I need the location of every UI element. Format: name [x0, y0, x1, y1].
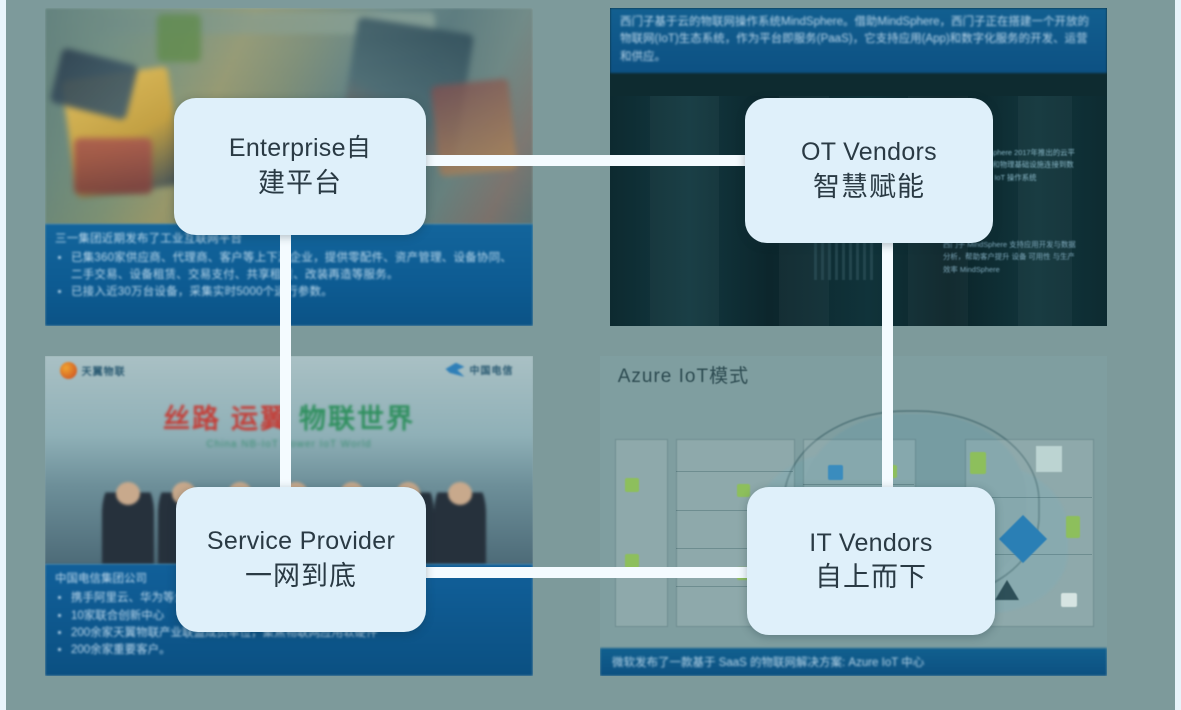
photo-shape-robot-arm-2	[49, 47, 138, 120]
diagram-triangle	[995, 580, 1019, 600]
china-telecom-logo-text: 中国电信	[469, 362, 513, 377]
panel-br-caption: 微软发布了一款基于 SaaS 的物联网解决方案: Azure IoT 中心	[600, 648, 1107, 676]
diagram-square	[1036, 446, 1062, 472]
banner-text-red: 丝路	[163, 397, 221, 436]
node-service-provider-line2: 一网到底	[245, 560, 357, 593]
diagram-chip	[1061, 593, 1077, 607]
node-enterprise-line1: Enterprise自	[229, 133, 371, 164]
panel-tr-caption: 西门子基于云的物联网操作系统MindSphere。借助MindSphere，西门…	[610, 8, 1107, 73]
diagram-rule	[803, 484, 915, 485]
azure-iot-title: Azure IoT模式	[618, 361, 749, 388]
diagram-chip	[970, 452, 986, 474]
node-ot-vendors-line1: OT Vendors	[801, 137, 937, 168]
node-it-vendors-line2: 自上而下	[815, 561, 927, 594]
photo-shape-bin	[74, 138, 152, 194]
person-silhouette	[102, 477, 154, 564]
node-service-provider-line1: Service Provider	[207, 526, 395, 557]
body-column	[1018, 96, 1073, 326]
list-item: 已接入近30万台设备，采集实时5000个运行参数。	[71, 284, 523, 301]
person-silhouette	[434, 477, 486, 564]
node-it-vendors-line1: IT Vendors	[809, 528, 932, 559]
panel-tr-side-note-2: 西门子 MindSphere 支持应用开发与数据分析，帮助客户提升 设备 可用性…	[943, 239, 1077, 277]
diagram-chip	[1066, 516, 1080, 538]
node-ot-vendors-line2: 智慧赋能	[813, 171, 925, 204]
node-enterprise[interactable]: Enterprise自 建平台	[174, 98, 426, 235]
node-it-vendors[interactable]: IT Vendors 自上而下	[747, 487, 995, 635]
person-head	[448, 482, 472, 505]
list-item: 已集360家供应商、代理商、客户等上下游企业，提供零配件、资产管理、设备协同、二…	[71, 250, 523, 283]
body-column	[650, 96, 720, 326]
tianyi-logo-text: 天翼物联	[82, 363, 126, 378]
person-head	[116, 482, 140, 505]
diagram-chip	[828, 465, 843, 480]
diagram-column-1	[615, 439, 668, 627]
china-telecom-logo: 中国电信	[445, 362, 513, 377]
diagram-chip	[737, 484, 750, 497]
right-margin	[1175, 0, 1181, 710]
diagram-canvas: 三一集团近期发布了工业互联网平台 已集360家供应商、代理商、客户等上下游企业，…	[0, 0, 1181, 710]
diagram-rule	[676, 471, 793, 472]
tianyi-logo-mark	[60, 362, 77, 379]
node-service-provider[interactable]: Service Provider 一网到底	[176, 487, 426, 632]
list-item: 200余家重要客户。	[71, 642, 523, 659]
china-telecom-logo-mark	[445, 363, 464, 377]
diagram-chip	[625, 478, 639, 492]
tianyi-iot-logo: 天翼物联	[60, 362, 126, 379]
node-enterprise-line2: 建平台	[258, 167, 342, 200]
photo-shape-green	[157, 14, 201, 62]
banner-text-green: 物联世界	[299, 397, 415, 436]
left-margin	[0, 0, 6, 710]
node-ot-vendors[interactable]: OT Vendors 智慧赋能	[745, 98, 993, 243]
